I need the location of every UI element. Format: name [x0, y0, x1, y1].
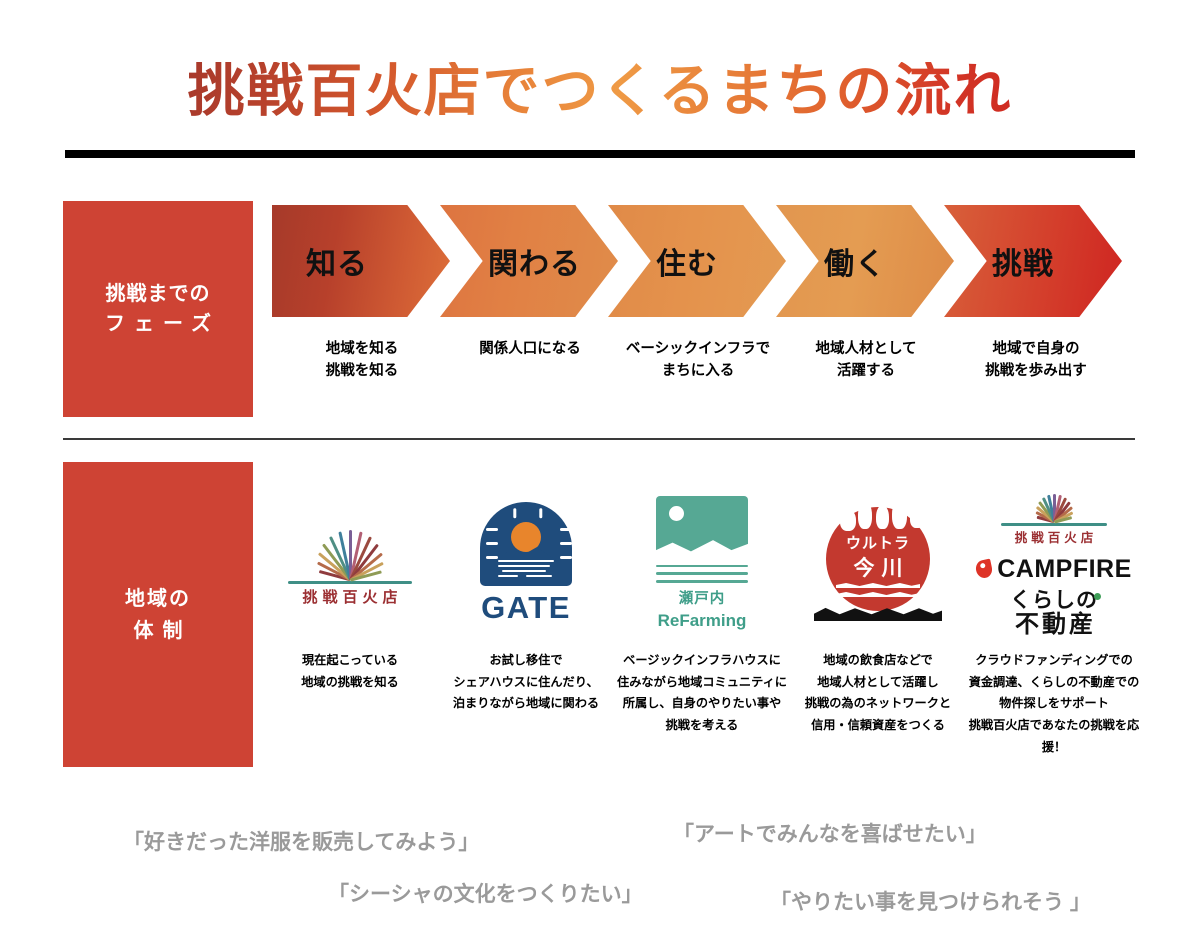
title-underline-rule [65, 150, 1135, 158]
phase-arrow-row: 知る 関わる 住む 働く 挑戦 [272, 205, 1136, 317]
quote-item: 「やりたい事を見つけられそう 」 [770, 886, 1091, 916]
chosen-hyakkaten-logo: 挑戦百火店 [280, 522, 420, 607]
org-section-label-panel: 地域の 体制 [63, 462, 253, 767]
phase-caption-line: 活躍する [776, 360, 956, 382]
phase-caption: 地域人材として 活躍する [776, 338, 956, 383]
phase-arrow-label: 住む [656, 239, 718, 283]
org-panel-line2: 体制 [125, 615, 192, 647]
org-description-line: 挑戦を考える [616, 715, 788, 737]
logo-container[interactable]: 挑戦百火店 [262, 478, 438, 650]
org-description-line: 所属し、自身のやりたい事や [616, 693, 788, 715]
phase-caption-line: 挑戦を歩み出す [946, 360, 1126, 382]
ultra-imagawa-logo-text-bottom: 今川 [826, 552, 930, 582]
org-description-line: シェアハウスに住んだり、 [440, 672, 612, 694]
org-description: クラウドファンディングでの 資金調達、くらしの不動産での 物件探しをサポート 挑… [966, 650, 1142, 759]
section-divider-rule [63, 438, 1135, 440]
campfire-flame-icon [975, 559, 994, 580]
gate-logo: GATE [461, 502, 591, 626]
org-description: お試し移住で シェアハウスに住んだり、 泊まりながら地域に関わる [438, 650, 614, 715]
quote-item: 「シーシャの文化をつくりたい」 [328, 878, 643, 908]
phase-caption: 地域を知る 挑戦を知る [272, 338, 452, 383]
org-description-line: 信用・信頼資産をつくる [792, 715, 964, 737]
org-column-gate: GATE お試し移住で シェアハウスに住んだり、 泊まりながら地域に関わる [438, 478, 614, 715]
kurashino-fudosan-logo-text-line2: 不動産 [969, 612, 1139, 638]
org-description-line: 物件探しをサポート [968, 693, 1140, 715]
org-description-line: 地域人材として活躍し [792, 672, 964, 694]
phase-arrow-label: 働く [824, 239, 886, 283]
phase-caption-line: 地域人材として [776, 338, 956, 360]
org-description: 地域の飲食店などで 地域人材として活躍し 挑戦の為のネットワークと 信用・信頼資… [790, 650, 966, 737]
org-description-lead: ベージックインフラハウス [623, 653, 769, 667]
phase-arrow-chosen[interactable]: 挑戦 [944, 205, 1122, 317]
page-header: 挑戦百火店でつくるまちの流れ [0, 62, 1200, 122]
chosen-hyakkaten-logo-text: 挑戦百火店 [280, 586, 420, 607]
setouchi-refarming-logo-text: 瀬戸内 ReFarming [632, 590, 772, 633]
phase-caption-line: 地域を知る [272, 338, 452, 360]
org-column-setouchi-refarming: 瀬戸内 ReFarming ベージックインフラハウスに 住みながら地域コミュニテ… [614, 478, 790, 737]
chosen-hyakkaten-small-logo: 挑戦百火店 [969, 490, 1139, 546]
campfire-lockup: CAMPFIRE [969, 555, 1139, 584]
phase-caption-line: 関係人口になる [440, 338, 620, 360]
phase-arrow-shiru[interactable]: 知る [272, 205, 450, 317]
quotes-section: 「好きだった洋服を販売してみよう」 「アートでみんなを喜ばせたい」 「シーシャの… [0, 818, 1200, 928]
phases-panel-line2: フェーズ [96, 309, 220, 339]
org-column-row: 挑戦百火店 現在起こっている 地域の挑戦を知る GATE お試し移住で [262, 478, 1142, 768]
phase-arrow-sumu[interactable]: 住む [608, 205, 786, 317]
phases-section-label-panel: 挑戦までの フェーズ [63, 201, 253, 417]
phase-caption-row: 地域を知る 挑戦を知る 関係人口になる ベーシックインフラで まちに入る 地域人… [272, 338, 1136, 398]
page-title: 挑戦百火店でつくるまちの流れ [188, 62, 1013, 122]
org-panel-line1: 地域の [125, 583, 191, 615]
org-column-ultra-imagawa: ウルトラ 今川 地域の飲食店などで 地域人材として活躍し 挑戦の為のネットワーク… [790, 478, 966, 737]
refarming-logo-en: ReFarming [632, 610, 772, 633]
phase-arrow-label: 知る [306, 239, 368, 283]
gate-arch-sun-icon [480, 502, 572, 586]
phase-caption-line: まちに入る [608, 360, 788, 382]
phase-arrow-label: 挑戦 [992, 239, 1054, 283]
phase-caption: 地域で自身の 挑戦を歩み出す [946, 338, 1126, 383]
org-column-chosen-hyakkaten: 挑戦百火店 現在起こっている 地域の挑戦を知る [262, 478, 438, 693]
moon-icon [669, 506, 684, 521]
wave-lines-icon [836, 583, 920, 603]
org-description-line-tail: に [769, 653, 781, 667]
phase-caption-line: 地域で自身の [946, 338, 1126, 360]
org-description-line: お試し移住で [440, 650, 612, 672]
quote-item: 「アートでみんなを喜ばせたい」 [673, 818, 987, 848]
kurashino-fudosan-lockup: くらしの 不動産 [969, 590, 1139, 639]
logo-container[interactable]: ウルトラ 今川 [790, 478, 966, 650]
phase-caption-line: ベーシックインフラで [608, 338, 788, 360]
org-description-line: 住みながら地域コミュニティに [616, 672, 788, 694]
org-description-line: 資金調達、くらしの不動産での [968, 672, 1140, 694]
setouchi-refarming-logo: 瀬戸内 ReFarming [632, 496, 772, 633]
org-description-line: 挑戦の為のネットワークと [792, 693, 964, 715]
ultra-imagawa-logo: ウルトラ 今川 [803, 507, 953, 621]
org-description-line: 地域の挑戦を知る [264, 672, 436, 694]
campfire-logo-text: CAMPFIRE [997, 555, 1132, 584]
chosen-hyakkaten-small-logo-text: 挑戦百火店 [969, 527, 1139, 546]
org-description-line: 泊まりながら地域に関わる [440, 693, 612, 715]
quote-item: 「好きだった洋服を販売してみよう」 [123, 826, 479, 856]
phases-panel-line1: 挑戦までの [106, 279, 211, 309]
landscape-card-icon [656, 496, 748, 558]
phase-arrow-label: 関わる [488, 239, 581, 283]
org-description-line: 現在起こっている [264, 650, 436, 672]
refarming-logo-jp: 瀬戸内 [632, 590, 772, 610]
logo-container[interactable]: GATE [438, 478, 614, 650]
phase-caption-line: 挑戦を知る [272, 360, 452, 382]
ultra-imagawa-logo-text-top: ウルトラ [826, 532, 930, 553]
flame-circle-icon: ウルトラ 今川 [826, 507, 930, 611]
org-description-line: クラウドファンディングでの [968, 650, 1140, 672]
org-column-campfire-kurashino-fudosan: 挑戦百火店 CAMPFIRE くらしの 不動産 クラウドファンディングでの 資金… [966, 478, 1142, 759]
phase-arrow-hataraku[interactable]: 働く [776, 205, 954, 317]
org-description: 現在起こっている 地域の挑戦を知る [262, 650, 438, 693]
phase-caption: ベーシックインフラで まちに入る [608, 338, 788, 383]
field-lines-icon [656, 565, 748, 583]
campfire-kurashino-fudosan-logo: 挑戦百火店 CAMPFIRE くらしの 不動産 [969, 490, 1139, 639]
firework-burst-icon [280, 522, 420, 584]
logo-container[interactable]: 瀬戸内 ReFarming [614, 478, 790, 650]
org-description: ベージックインフラハウスに 住みながら地域コミュニティに 所属し、自身のやりたい… [614, 650, 790, 737]
gate-logo-text: GATE [461, 590, 591, 626]
logo-container[interactable]: 挑戦百火店 CAMPFIRE くらしの 不動産 [966, 478, 1142, 650]
org-description-line: ベージックインフラハウスに [616, 650, 788, 672]
org-description-line: 地域の飲食店などで [792, 650, 964, 672]
phase-arrow-kakawaru[interactable]: 関わる [440, 205, 618, 317]
kurashino-fudosan-logo-text-line1: くらしの [1010, 590, 1098, 613]
org-description-line: 挑戦百火店であなたの挑戦を応援！ [968, 715, 1140, 758]
firework-burst-icon [995, 490, 1113, 526]
phase-caption: 関係人口になる [440, 338, 620, 360]
